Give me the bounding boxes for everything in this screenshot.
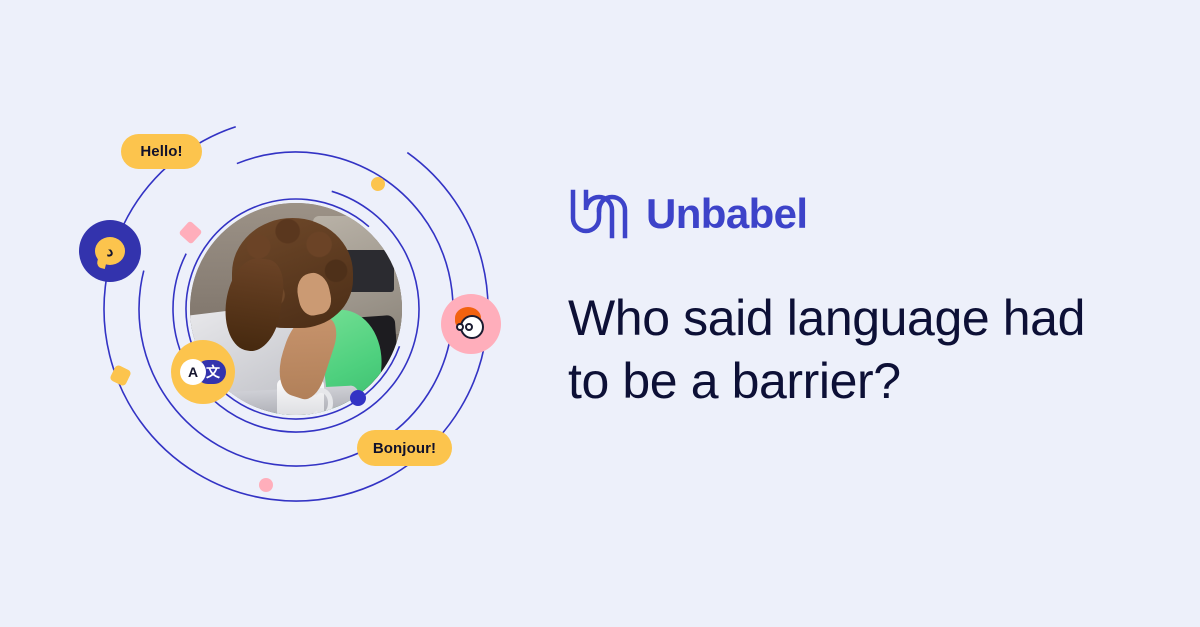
- content-column: Unbabel Who said language had to be a ba…: [568, 186, 1168, 447]
- unbabel-wordmark: Unbabel: [646, 193, 807, 235]
- page-headline: Who said language had to be a barrier?: [568, 287, 1148, 413]
- page-canvas: Hello! Bonjour! د 文 A: [0, 0, 1200, 627]
- brand-lockup: Unbabel: [568, 186, 1168, 242]
- yellow-circle-dot: [371, 177, 385, 191]
- greeting-pill-hello: Hello!: [121, 134, 202, 169]
- arabic-speech-badge: د: [79, 220, 141, 282]
- greeting-pill-bonjour-label: Bonjour!: [373, 440, 436, 457]
- arabic-glyph: د: [107, 244, 114, 259]
- blue-circle-dot: [350, 390, 366, 406]
- avatar-face-icon: [454, 307, 488, 341]
- translate-latin-chip: A: [180, 359, 206, 385]
- translate-icon: 文 A: [180, 359, 226, 385]
- headline-line-1: Who said language had: [568, 287, 1148, 350]
- greeting-pill-bonjour: Bonjour!: [357, 430, 452, 466]
- translate-badge: 文 A: [171, 340, 235, 404]
- language-orbit-illustration: Hello! Bonjour! د 文 A: [0, 0, 560, 627]
- speech-bubble-icon: د: [95, 237, 125, 265]
- greeting-pill-hello-label: Hello!: [140, 143, 182, 160]
- headline-line-2: to be a barrier?: [568, 350, 1148, 413]
- pink-circle-dot: [259, 478, 273, 492]
- avatar-badge: [441, 294, 501, 354]
- unbabel-logo-mark: [568, 187, 630, 241]
